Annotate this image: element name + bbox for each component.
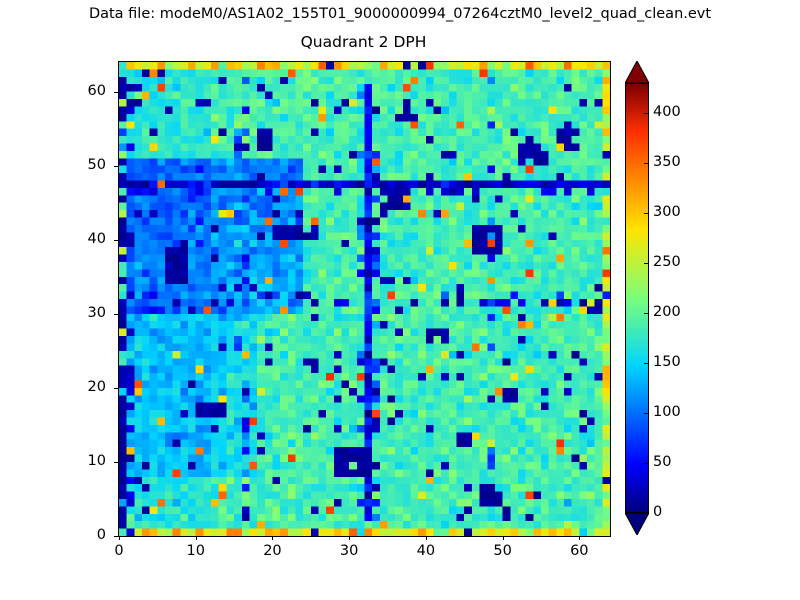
x-tick-mark (349, 536, 350, 540)
heatmap-image[interactable] (119, 62, 610, 536)
y-tick-label: 30 (56, 305, 106, 321)
colorbar-tick-label: 200 (653, 304, 681, 320)
x-tick-label: 60 (549, 543, 609, 559)
colorbar-canvas (626, 84, 648, 512)
x-tick-label: 40 (396, 543, 456, 559)
x-tick-label: 20 (242, 543, 302, 559)
y-tick-mark (114, 240, 118, 241)
y-tick-mark (114, 166, 118, 167)
colorbar-extend-min-arrow (625, 513, 649, 535)
x-tick-mark (426, 536, 427, 540)
y-tick-label: 20 (56, 379, 106, 395)
colorbar-tick-mark (644, 413, 649, 414)
y-tick-label: 60 (56, 83, 106, 99)
y-tick-mark (114, 462, 118, 463)
colorbar-tick-label: 50 (653, 454, 671, 470)
x-tick-label: 30 (319, 543, 379, 559)
colorbar-tick-label: 250 (653, 254, 681, 270)
y-tick-mark (114, 92, 118, 93)
colorbar-tick-mark (644, 463, 649, 464)
x-tick-mark (579, 536, 580, 540)
colorbar-tick-label: 300 (653, 204, 681, 220)
y-tick-mark (114, 388, 118, 389)
y-tick-label: 0 (56, 527, 106, 543)
colorbar-tick-mark (644, 213, 649, 214)
colorbar-tick-label: 350 (653, 154, 681, 170)
data-file-label: Data file: modeM0/AS1A02_155T01_90000009… (0, 6, 800, 22)
colorbar-tick-mark (644, 363, 649, 364)
x-tick-mark (272, 536, 273, 540)
y-tick-label: 50 (56, 157, 106, 173)
y-tick-label: 10 (56, 453, 106, 469)
heatmap-plot-area[interactable] (118, 61, 611, 537)
colorbar-extend-max-arrow (625, 61, 649, 83)
colorbar[interactable]: 050100150200250300350400 (625, 61, 649, 535)
y-tick-mark (114, 314, 118, 315)
colorbar-tick-label: 0 (653, 504, 662, 520)
y-tick-mark (114, 536, 118, 537)
colorbar-tick-label: 400 (653, 104, 681, 120)
colorbar-tick-mark (644, 263, 649, 264)
x-tick-label: 10 (166, 543, 226, 559)
page-title: Quadrant 2 DPH (118, 33, 609, 51)
x-tick-label: 50 (473, 543, 533, 559)
x-tick-mark (196, 536, 197, 540)
colorbar-tick-mark (644, 513, 649, 514)
figure-canvas: Data file: modeM0/AS1A02_155T01_90000009… (0, 0, 800, 600)
x-tick-label: 0 (89, 543, 149, 559)
x-tick-mark (119, 536, 120, 540)
colorbar-tick-label: 100 (653, 404, 681, 420)
x-tick-mark (503, 536, 504, 540)
colorbar-tick-label: 150 (653, 354, 681, 370)
colorbar-tick-mark (644, 113, 649, 114)
colorbar-tick-mark (644, 313, 649, 314)
y-tick-label: 40 (56, 231, 106, 247)
colorbar-gradient[interactable] (625, 83, 649, 513)
colorbar-tick-mark (644, 163, 649, 164)
